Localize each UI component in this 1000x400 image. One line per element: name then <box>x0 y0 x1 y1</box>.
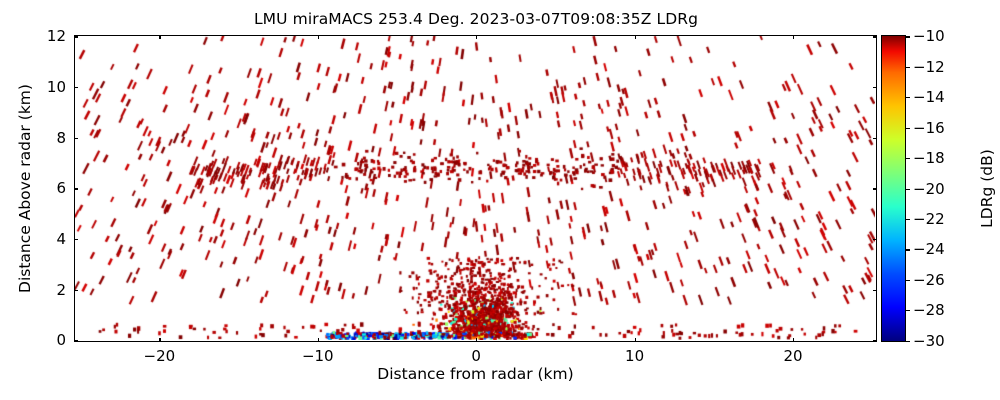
x-tick-label: −20 <box>144 347 176 365</box>
y-tick-label: 12 <box>34 27 66 45</box>
x-tick-mark <box>476 338 477 342</box>
colorbar-tick-label: −16 <box>913 119 945 137</box>
x-tick-mark <box>793 338 794 342</box>
colorbar-tick-mark <box>906 36 910 37</box>
x-tick-mark-top <box>635 35 636 39</box>
y-tick-mark <box>74 36 78 37</box>
colorbar-tick-label: −28 <box>913 301 945 319</box>
colorbar-tick-label: −30 <box>913 332 945 350</box>
colorbar-tick-label: −20 <box>913 180 945 198</box>
colorbar-tick-mark <box>906 128 910 129</box>
colorbar-tick-label: −14 <box>913 88 945 106</box>
y-tick-mark-right <box>873 138 877 139</box>
y-tick-label: 0 <box>34 331 66 349</box>
y-tick-mark-right <box>873 340 877 341</box>
colorbar-tick-mark <box>906 158 910 159</box>
colorbar-tick-mark <box>906 310 910 311</box>
colorbar-tick-mark <box>906 280 910 281</box>
x-tick-mark-top <box>793 35 794 39</box>
x-tick-label: 0 <box>471 347 481 365</box>
y-tick-label: 6 <box>34 179 66 197</box>
colorbar-tick-label: −26 <box>913 271 945 289</box>
y-tick-mark <box>74 87 78 88</box>
colorbar-label: LDRg (dB) <box>978 35 996 342</box>
x-tick-mark-top <box>476 35 477 39</box>
x-axis-label: Distance from radar (km) <box>74 365 877 383</box>
y-axis-label: Distance Above radar (km) <box>16 35 34 342</box>
y-tick-mark <box>74 340 78 341</box>
plot-axes <box>74 35 877 342</box>
y-tick-label: 2 <box>34 281 66 299</box>
y-tick-label: 10 <box>34 78 66 96</box>
colorbar-tick-label: −24 <box>913 240 945 258</box>
colorbar-tick-mark <box>906 219 910 220</box>
colorbar-tick-label: −18 <box>913 149 945 167</box>
colorbar-tick-label: −22 <box>913 210 945 228</box>
x-tick-label: 10 <box>625 347 644 365</box>
colorbar-tick-mark <box>906 67 910 68</box>
scatter-data-layer <box>75 36 875 340</box>
y-tick-mark-right <box>873 239 877 240</box>
x-tick-mark-top <box>318 35 319 39</box>
colorbar-tick-label: −12 <box>913 58 945 76</box>
y-tick-mark-right <box>873 36 877 37</box>
y-tick-label: 8 <box>34 129 66 147</box>
x-tick-mark <box>635 338 636 342</box>
x-tick-label: 20 <box>783 347 802 365</box>
radar-rhi-figure: LMU miraMACS 253.4 Deg. 2023-03-07T09:08… <box>0 0 1000 400</box>
y-tick-mark <box>74 239 78 240</box>
figure-title: LMU miraMACS 253.4 Deg. 2023-03-07T09:08… <box>0 10 952 28</box>
colorbar-tick-mark <box>906 97 910 98</box>
colorbar-tick-label: −10 <box>913 27 945 45</box>
x-tick-mark <box>159 338 160 342</box>
colorbar <box>881 35 906 342</box>
y-tick-label: 4 <box>34 230 66 248</box>
x-tick-mark <box>318 338 319 342</box>
y-tick-mark <box>74 138 78 139</box>
colorbar-tick-mark <box>906 341 910 342</box>
y-tick-mark-right <box>873 290 877 291</box>
colorbar-tick-mark <box>906 249 910 250</box>
y-tick-mark-right <box>873 188 877 189</box>
y-tick-mark <box>74 188 78 189</box>
x-tick-mark-top <box>159 35 160 39</box>
y-tick-mark <box>74 290 78 291</box>
colorbar-tick-mark <box>906 189 910 190</box>
x-tick-label: −10 <box>302 347 334 365</box>
y-tick-mark-right <box>873 87 877 88</box>
